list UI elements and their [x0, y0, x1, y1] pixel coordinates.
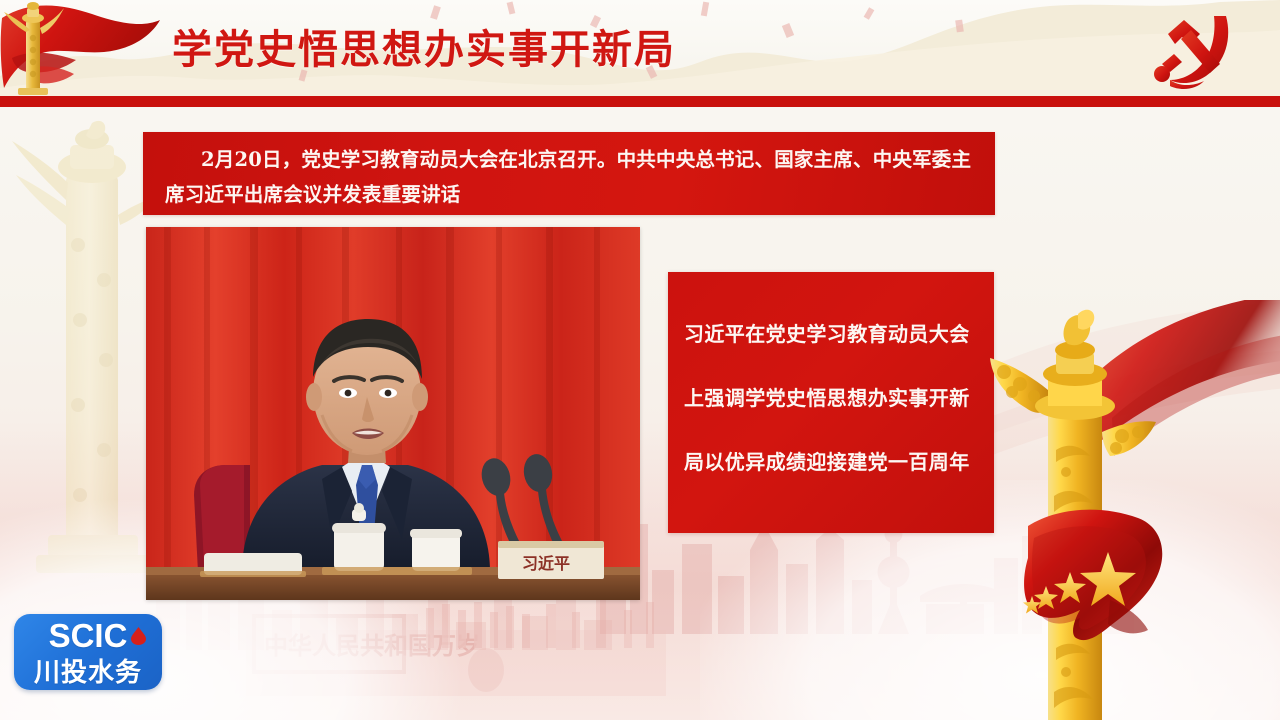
- name-plate-text: 习近平: [522, 554, 570, 573]
- meeting-photo: 习近平: [146, 227, 640, 600]
- quote-line-1: 习近平在党史学习教育动员大会: [684, 302, 980, 366]
- water-drop-icon: [130, 627, 147, 645]
- lead-headline-box: 2月20日，党史学习教育动员大会在北京召开。中共中央总书记、国家主席、中央军委主…: [143, 132, 995, 215]
- red-flag-with-golden-column-icon: [0, 0, 180, 98]
- page-title: 学党史悟思想办实事开新局: [172, 22, 676, 78]
- hammer-and-sickle-icon: [1148, 12, 1240, 96]
- header-red-stripe: [0, 96, 1280, 107]
- quote-box: 习近平在党史学习教育动员大会 上强调学党史悟思想办实事开新 局以优异成绩迎接建党…: [668, 272, 994, 533]
- golden-column-and-flag-decor: [990, 300, 1280, 720]
- quote-line-3: 局以优异成绩迎接建党一百周年: [684, 430, 980, 494]
- quote-line-2: 上强调学党史悟思想办实事开新: [684, 366, 980, 430]
- logo-sub-text: 川投水务: [14, 652, 162, 689]
- slide-header: 学党史悟思想办实事开新局: [0, 0, 1280, 107]
- slide-canvas: 中华人民共和国万岁: [0, 0, 1280, 720]
- company-logo[interactable]: SCIC 川投水务: [14, 614, 162, 690]
- lead-headline-text: 2月20日，党史学习教育动员大会在北京召开。中共中央总书记、国家主席、中央军委主…: [165, 142, 977, 212]
